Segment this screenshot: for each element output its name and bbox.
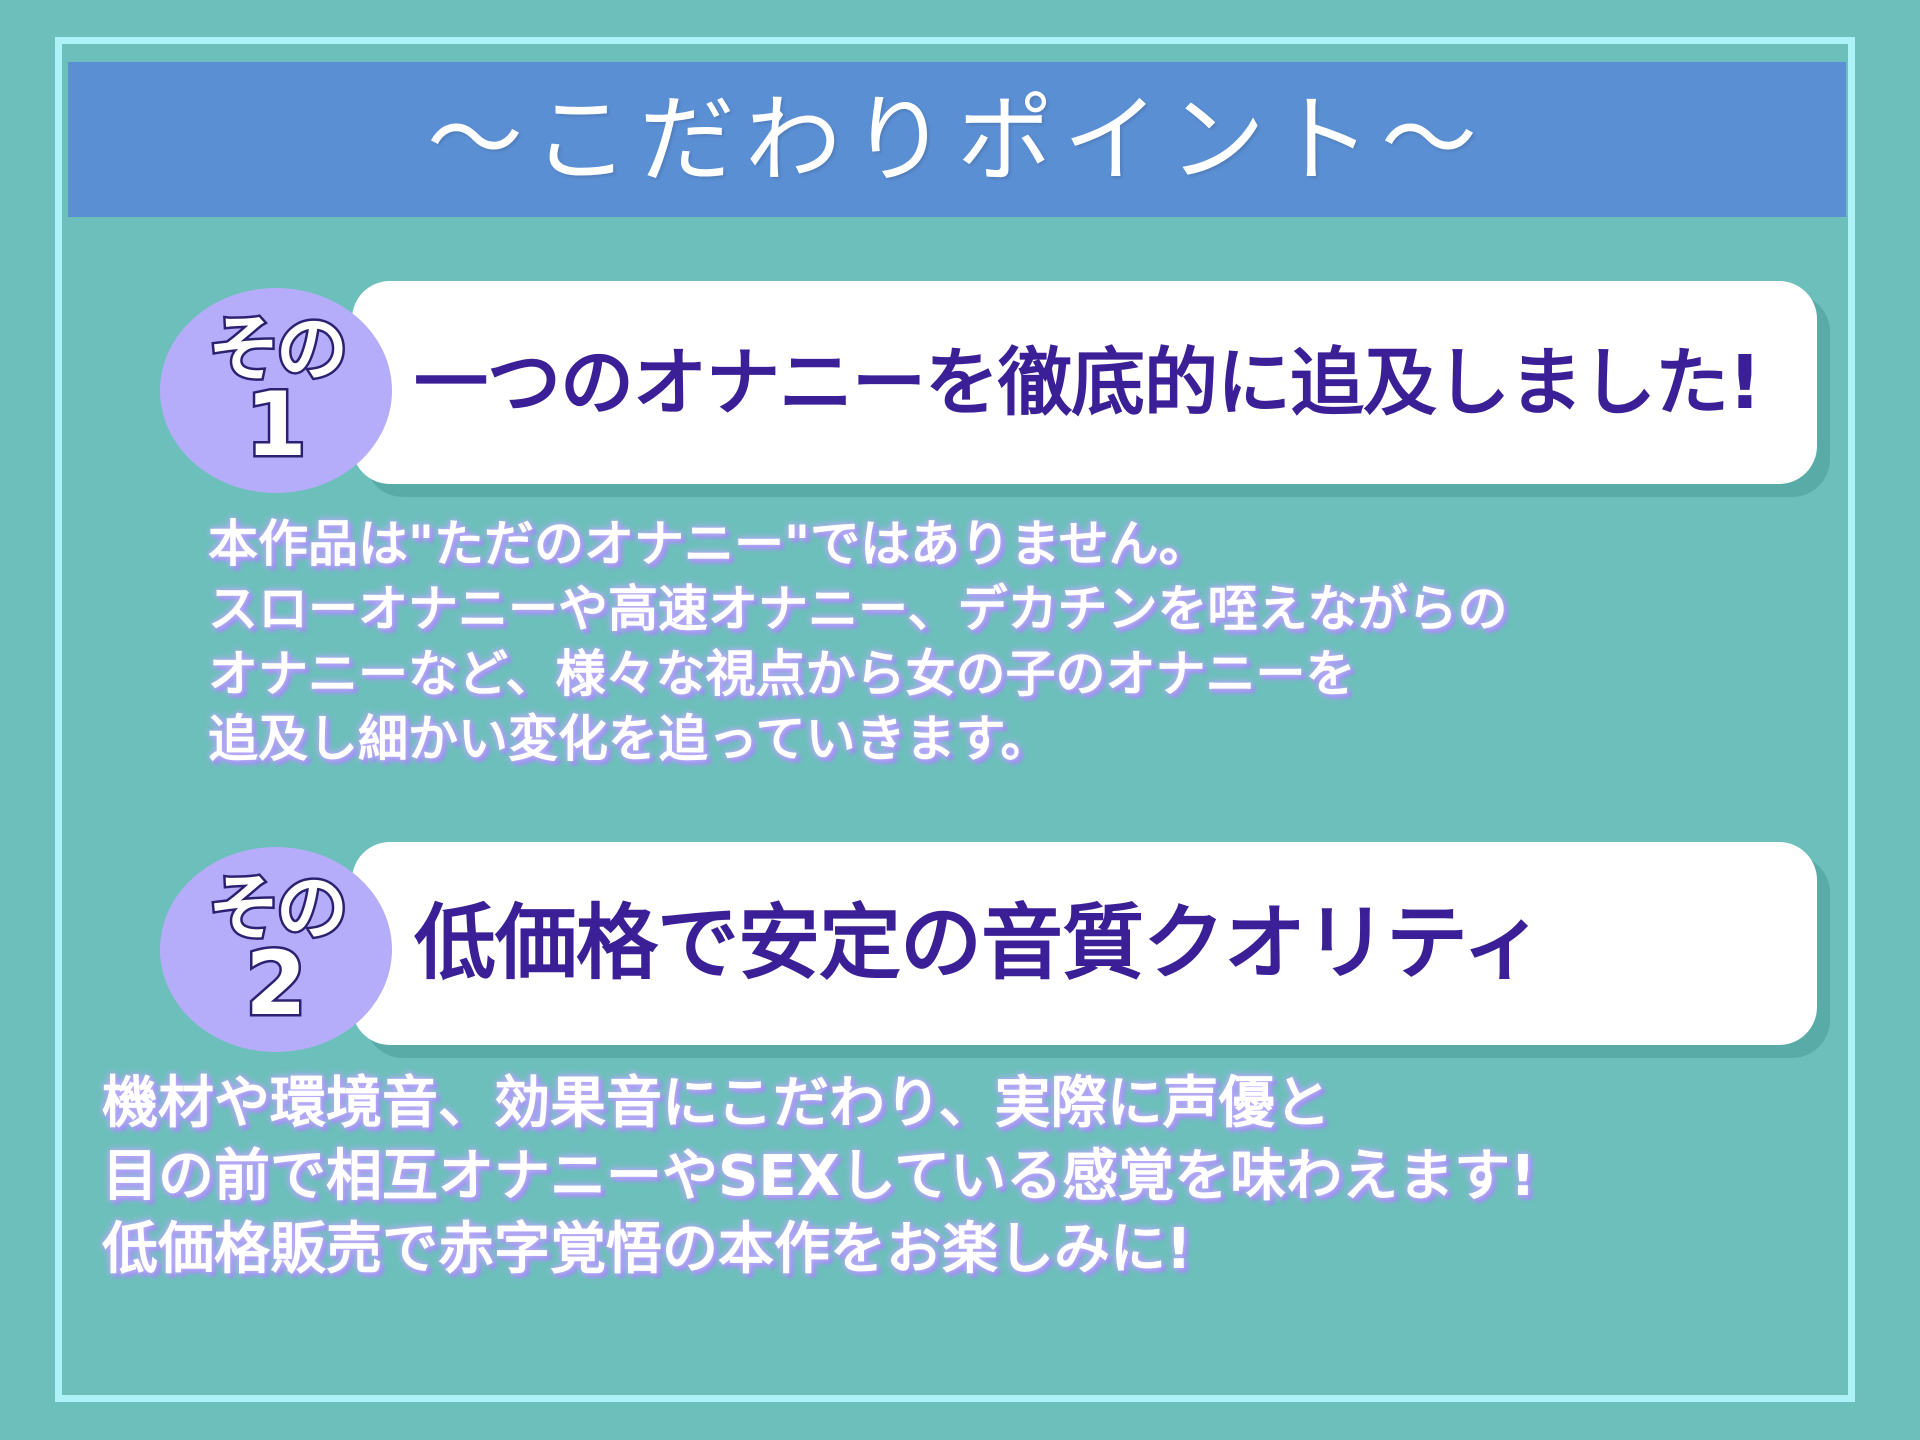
heading-card-2: 低価格で安定の音質クオリティ [352, 842, 1817, 1045]
section-body-2: 機材や環境音、効果音にこだわり、実際に声優と 目の前で相互オナニーやSEXしてい… [102, 1068, 1536, 1286]
badge-number: 2 [245, 942, 306, 1026]
badge-point-2: その 2 [160, 847, 392, 1052]
header-banner: ～こだわりポイント～ [68, 62, 1846, 217]
badge-point-1: その 1 [160, 288, 392, 493]
page-title: ～こだわりポイント～ [427, 92, 1487, 188]
badge-number: 1 [245, 383, 306, 467]
section-heading-2: 低価格で安定の音質クオリティ [352, 903, 1543, 985]
section-heading-1: 一つのオナニーを徹底的に追及しました! [352, 346, 1761, 420]
section-body-1: 本作品は"ただのオナニー"ではありません。 スローオナニーや高速オナニー、デカチ… [208, 512, 1508, 772]
promo-slide: ～こだわりポイント～ その 1 一つのオナニーを徹底的に追及しました! 本作品は… [0, 0, 1920, 1440]
heading-card-1: 一つのオナニーを徹底的に追及しました! [352, 281, 1817, 484]
